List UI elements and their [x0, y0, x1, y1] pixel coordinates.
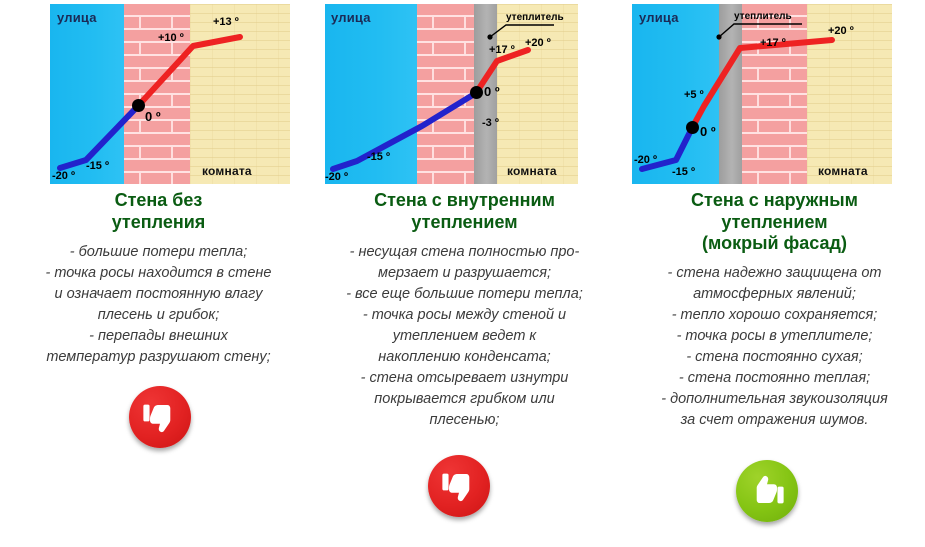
- list-item: за счет отражения шумов.: [618, 410, 925, 431]
- bullets-no-insulation: - большие потери тепла; - точка росы нах…: [0, 242, 317, 368]
- temp-wall-inner: +17 º: [760, 37, 786, 49]
- bullets-outer-insulation: - стена надежно защищена от атмосферных …: [612, 263, 925, 431]
- list-item: накоплению конденсата;: [311, 347, 618, 368]
- temp-wall-inner: -3 º: [482, 117, 499, 129]
- temperature-curve: [50, 4, 290, 184]
- temp-insulation-outer: -15 º: [672, 166, 695, 178]
- thumb-down-icon: [129, 386, 191, 448]
- list-item: - точка росы между стеной и: [311, 305, 618, 326]
- comparison-grid: улица комната -20 º -15 º 0 º +10 º +13 …: [0, 0, 925, 547]
- temp-outside: -20 º: [52, 170, 75, 182]
- list-item: - стена постоянно теплая;: [618, 368, 925, 389]
- temp-dew-point: 0 º: [700, 124, 716, 139]
- room-label: комната: [818, 164, 868, 178]
- page-title-inner-insulation: Стена с внутренним утеплением: [305, 190, 624, 233]
- list-item: температур разрушают стену;: [6, 347, 311, 368]
- list-item: атмосферных явлений;: [618, 284, 925, 305]
- list-item: плесень и грибок;: [6, 305, 311, 326]
- diagram-inner-insulation: улица комната утеплитель -20 º -15 º -3 …: [325, 4, 578, 184]
- list-item: покрывается грибком или: [311, 389, 618, 410]
- column-outer-insulation: улица комната утеплитель -20 º -15 º 0 º…: [612, 0, 925, 547]
- list-item: - стена отсыревает изнутри: [311, 368, 618, 389]
- list-item: - стена постоянно сухая;: [618, 347, 925, 368]
- temp-outside: -20 º: [634, 154, 657, 166]
- list-item: и означает постоянную влагу: [6, 284, 311, 305]
- temp-wall-outer: +5 º: [684, 89, 704, 101]
- bullets-inner-insulation: - несущая стена полностью про- мерзает и…: [305, 242, 624, 431]
- temp-dew-point: 0 º: [145, 109, 161, 124]
- temp-insulation-inner: +17 º: [489, 44, 515, 56]
- temp-wall-outer: -15 º: [367, 151, 390, 163]
- column-no-insulation: улица комната -20 º -15 º 0 º +10 º +13 …: [0, 0, 305, 547]
- room-label: комната: [202, 164, 252, 178]
- page-title-no-insulation: Стена без утепления: [0, 190, 317, 233]
- dew-point-marker: [470, 86, 483, 99]
- street-label: улица: [331, 10, 371, 25]
- diagram-no-insulation: улица комната -20 º -15 º 0 º +10 º +13 …: [50, 4, 290, 184]
- list-item: - большие потери тепла;: [6, 242, 311, 263]
- thumb-down-icon: [428, 455, 490, 517]
- street-label: улица: [639, 10, 679, 25]
- list-item: - перепады внешних: [6, 326, 311, 347]
- list-item: - дополнительная звукоизоляция: [618, 389, 925, 410]
- temp-dew-point: 0 º: [484, 84, 500, 99]
- thumb-up-icon: [736, 460, 798, 522]
- list-item: - все еще большие потери тепла;: [311, 284, 618, 305]
- page-title-outer-insulation: Стена с наружным утеплением (мокрый фаса…: [612, 190, 925, 255]
- temperature-curve: [325, 4, 578, 184]
- temp-room: +20 º: [525, 37, 551, 49]
- temp-wall-inner: +10 º: [158, 32, 184, 44]
- temp-room: +13 º: [213, 16, 239, 28]
- dew-point-marker: [686, 121, 699, 134]
- column-inner-insulation: улица комната утеплитель -20 º -15 º -3 …: [305, 0, 612, 547]
- diagram-outer-insulation: улица комната утеплитель -20 º -15 º 0 º…: [632, 4, 892, 184]
- list-item: плесенью;: [311, 410, 618, 431]
- list-item: - точка росы находится в стене: [6, 263, 311, 284]
- street-label: улица: [57, 10, 97, 25]
- list-item: утеплением ведет к: [311, 326, 618, 347]
- list-item: - стена надежно защищена от: [618, 263, 925, 284]
- insulation-label: утеплитель: [506, 12, 564, 23]
- temp-wall-outer: -15 º: [86, 160, 109, 172]
- list-item: - тепло хорошо сохраняется;: [618, 305, 925, 326]
- dew-point-marker: [132, 99, 145, 112]
- temp-outside: -20 º: [325, 171, 348, 183]
- insulation-label: утеплитель: [734, 11, 792, 22]
- room-label: комната: [507, 164, 557, 178]
- list-item: - точка росы в утеплителе;: [618, 326, 925, 347]
- temp-room: +20 º: [828, 25, 854, 37]
- list-item: мерзает и разрушается;: [311, 263, 618, 284]
- list-item: - несущая стена полностью про-: [311, 242, 618, 263]
